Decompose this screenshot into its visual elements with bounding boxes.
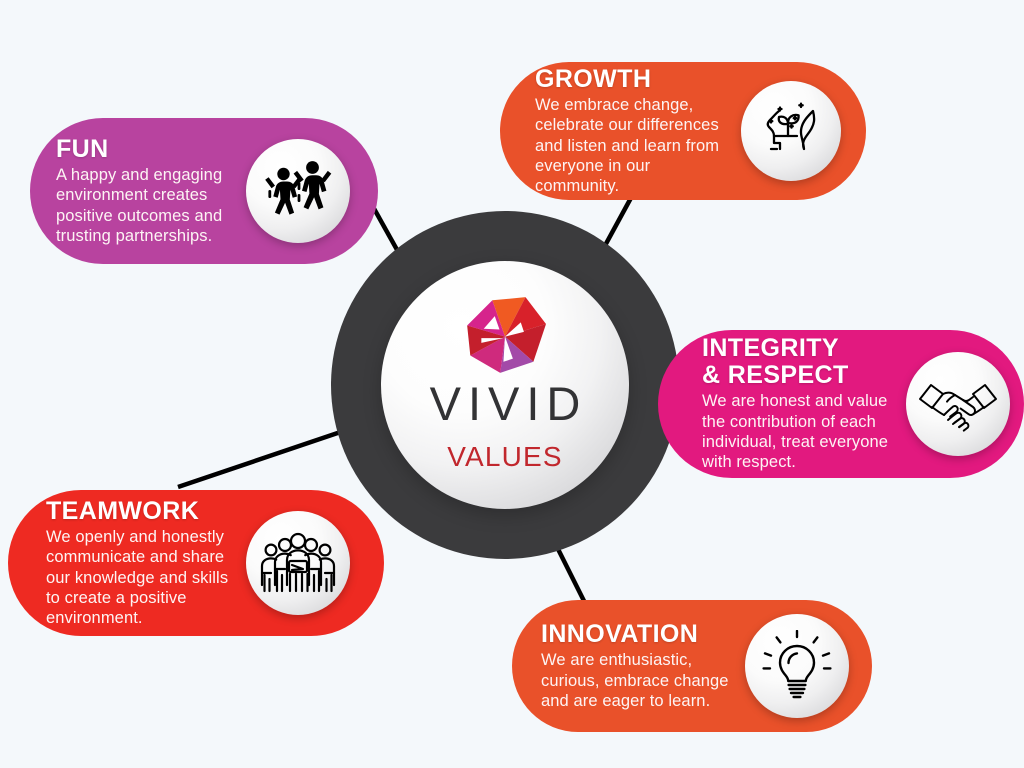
- celebrating-people-icon-bubble: [246, 139, 350, 243]
- hub-title: VIVID: [423, 380, 588, 427]
- value-card-growth-body: We embrace change, celebrate our differe…: [535, 95, 735, 196]
- lightbulb-icon-bubble: [745, 614, 849, 718]
- value-card-innovation-body: We are enthusiastic, curious, embrace ch…: [541, 650, 737, 711]
- value-card-innovation-text: INNOVATION We are enthusiastic, curious,…: [541, 621, 737, 711]
- value-card-teamwork[interactable]: TEAMWORK We openly and honestly communic…: [8, 490, 384, 636]
- vivid-star-logo-icon: [457, 294, 553, 376]
- group-of-people-icon-bubble: [246, 511, 350, 615]
- value-card-teamwork-body: We openly and honestly communicate and s…: [46, 527, 242, 628]
- hub-sphere: VIVID VALUES: [381, 261, 629, 509]
- head-with-growing-plant-icon-bubble: [741, 81, 841, 181]
- value-card-fun-text: FUN A happy and engaging environment cre…: [56, 136, 242, 247]
- value-card-fun-body: A happy and engaging environment creates…: [56, 165, 242, 246]
- value-card-fun-title: FUN: [56, 136, 242, 163]
- value-card-innovation[interactable]: INNOVATION We are enthusiastic, curious,…: [512, 600, 872, 732]
- value-card-integrity-title-line2: & RESPECT: [702, 362, 900, 389]
- value-card-growth-text: GROWTH We embrace change, celebrate our …: [535, 66, 735, 197]
- value-card-innovation-title: INNOVATION: [541, 621, 737, 648]
- group-of-people-icon: [260, 529, 336, 597]
- handshake-icon: [918, 373, 998, 435]
- value-card-integrity-body: We are honest and value the contribution…: [702, 391, 900, 472]
- value-card-fun[interactable]: FUN A happy and engaging environment cre…: [30, 118, 378, 264]
- celebrating-people-icon: [262, 157, 334, 225]
- value-card-integrity-text: INTEGRITY & RESPECT We are honest and va…: [702, 335, 900, 472]
- value-card-growth-title: GROWTH: [535, 66, 735, 93]
- lightbulb-icon: [761, 630, 833, 702]
- value-card-teamwork-title: TEAMWORK: [46, 498, 242, 525]
- head-with-growing-plant-icon: [757, 97, 825, 165]
- hub-subtitle: VALUES: [447, 443, 563, 471]
- value-card-integrity-title-line1: INTEGRITY: [702, 335, 900, 362]
- value-card-teamwork-text: TEAMWORK We openly and honestly communic…: [46, 498, 242, 629]
- value-card-growth[interactable]: GROWTH We embrace change, celebrate our …: [500, 62, 866, 200]
- value-card-integrity[interactable]: INTEGRITY & RESPECT We are honest and va…: [658, 330, 1024, 478]
- infographic-canvas: VIVID VALUES FUN A happy and engaging en…: [0, 0, 1024, 768]
- handshake-icon-bubble: [906, 352, 1010, 456]
